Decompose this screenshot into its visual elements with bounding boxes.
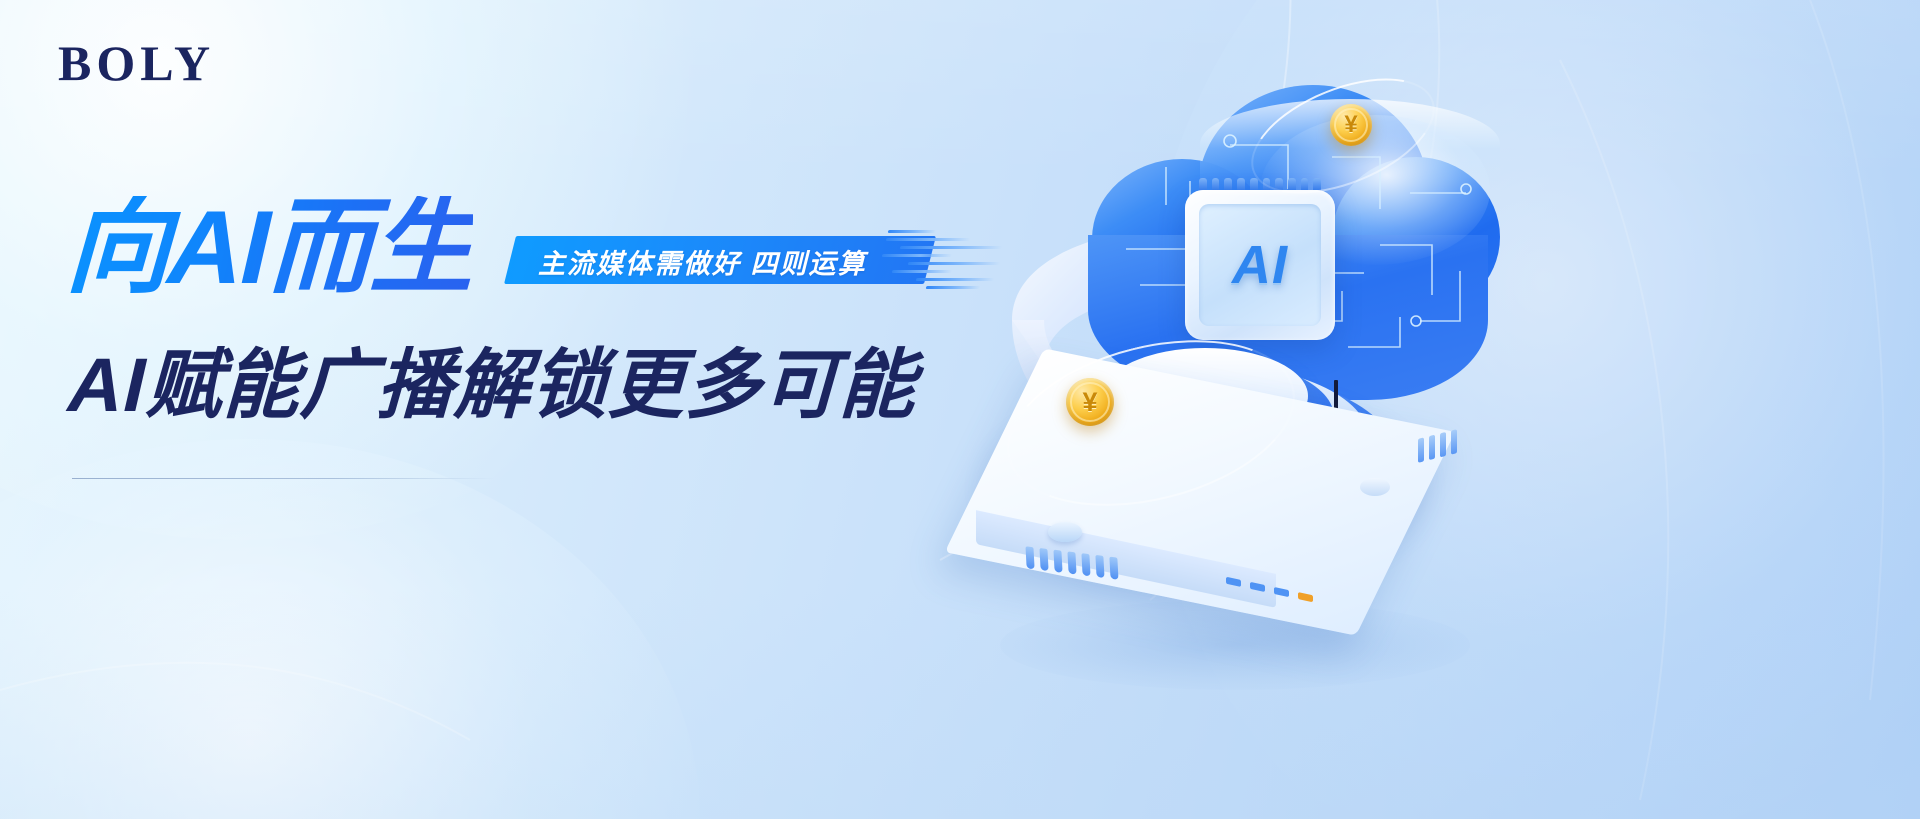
chip-label: AI [1185, 190, 1335, 340]
headline-row: 向AI而生 [66, 196, 472, 300]
base-knob-right [1360, 478, 1390, 496]
hero-banner: BOLY 向AI而生 主流媒体需做好 四则运算 AI赋能广播解锁更多可能 [0, 0, 1920, 819]
page-subtitle: AI赋能广播解锁更多可能 [67, 348, 918, 424]
coin-yuan-top: ¥ [1330, 104, 1372, 146]
divider-line [72, 478, 495, 479]
ai-chip-icon: AI [1185, 190, 1335, 340]
page-title: 向AI而生 [64, 196, 474, 300]
coin-yuan-bottom: ¥ [1066, 378, 1114, 426]
tagline-text: 主流媒体需做好 四则运算 [538, 240, 867, 282]
tagline-banner: 主流媒体需做好 四则运算 [510, 236, 980, 292]
coin-rim-bottom [1070, 382, 1110, 422]
base-knob-left [1048, 522, 1082, 542]
ai-cloud-illustration: AI [930, 40, 1570, 700]
coin-rim-top [1334, 108, 1368, 142]
brand-logo[interactable]: BOLY [58, 38, 215, 88]
